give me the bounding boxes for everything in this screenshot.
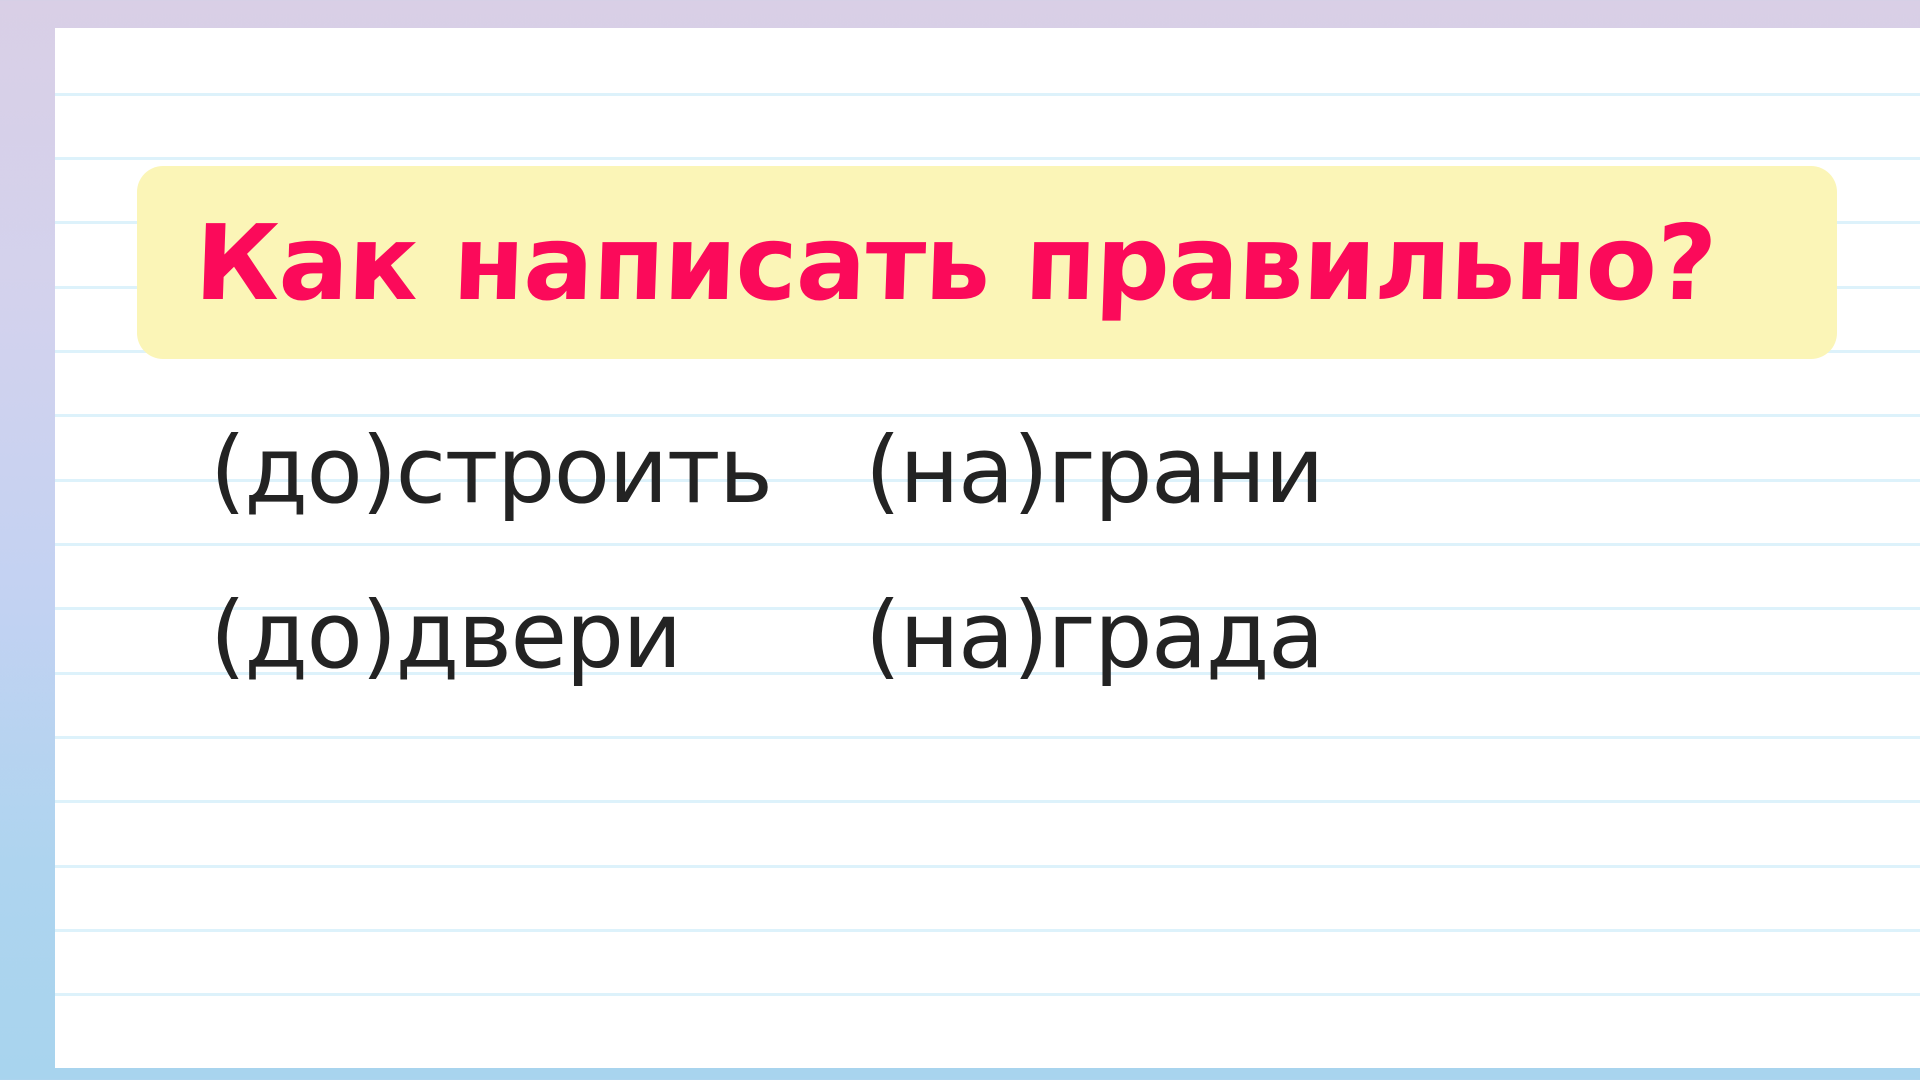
ruled-line (55, 800, 1920, 803)
page-title: Как написать правильно? (134, 166, 1461, 359)
word-item-na-grani: (на)грани (865, 388, 1323, 553)
title-highlight-box: Как написать правильно? (137, 166, 1837, 359)
word-item-na-grada: (на)града (865, 553, 1323, 718)
ruled-line (55, 736, 1920, 739)
lined-paper-sheet: Как написать правильно? (до)строить (на)… (55, 28, 1920, 1068)
word-row: (до)строить (на)грани (55, 388, 1555, 553)
word-item-do-dveri: (до)двери (210, 553, 681, 718)
word-row: (до)двери (на)града (55, 553, 1555, 718)
ruled-line (55, 929, 1920, 932)
word-item-do-stroit: (до)строить (210, 388, 772, 553)
slide-canvas: Как написать правильно? (до)строить (на)… (0, 0, 1920, 1080)
ruled-line (55, 993, 1920, 996)
ruled-line (55, 865, 1920, 868)
word-list: (до)строить (на)грани (до)двери (на)град… (55, 388, 1555, 718)
ruled-line (55, 157, 1920, 160)
ruled-line (55, 93, 1920, 96)
